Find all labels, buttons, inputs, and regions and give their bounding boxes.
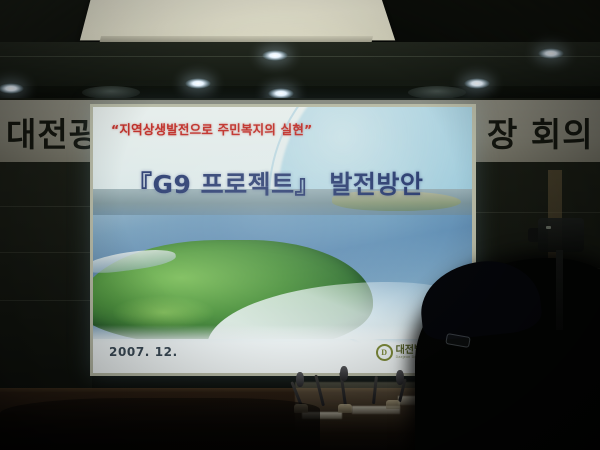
wall-seam <box>0 206 92 207</box>
recessed-downlight-icon <box>262 50 288 61</box>
microphone-head <box>340 366 348 381</box>
ceiling-seam <box>0 56 600 57</box>
banner-text-left: 대전광 <box>6 108 100 156</box>
logo-d-mark-icon: D <box>376 344 393 361</box>
camera-highlight <box>546 226 551 229</box>
wall-seam <box>474 212 600 213</box>
recessed-downlight-icon <box>185 78 211 89</box>
projection-screen: “지역상생발전으로 주민복지의 실현” 『G9 프로젝트』 발전방안 2007.… <box>93 107 472 373</box>
conference-room-photo: 대전광 장 회의 “지역상생발전으로 주민복지의 실현” 『G9 프로젝트』 발… <box>0 0 600 450</box>
photo-peninsula-highlight <box>113 296 214 328</box>
slide-subtitle: “지역상생발전으로 주민복지의 실현” <box>111 119 312 138</box>
wall-seam <box>0 252 92 253</box>
wall-seam <box>0 300 92 301</box>
recessed-downlight-icon <box>464 78 490 89</box>
wall-panel-left <box>0 162 92 398</box>
slide-aerial-photo <box>93 189 472 339</box>
microphone-base <box>338 404 352 413</box>
recessed-downlight-icon <box>538 48 564 59</box>
banner-text-right: 장 회의 <box>487 108 594 156</box>
slide-date: 2007. 12. <box>109 345 178 359</box>
microphone-head <box>396 370 404 385</box>
microphone-base <box>386 400 400 409</box>
microphone-head <box>296 372 304 387</box>
video-camera-body <box>538 218 584 252</box>
slide-title: 『G9 프로젝트』 발전방안 <box>127 165 423 201</box>
ceiling-light-panel <box>80 0 395 40</box>
camera-tripod <box>556 250 563 330</box>
foreground-shadow <box>0 398 320 450</box>
